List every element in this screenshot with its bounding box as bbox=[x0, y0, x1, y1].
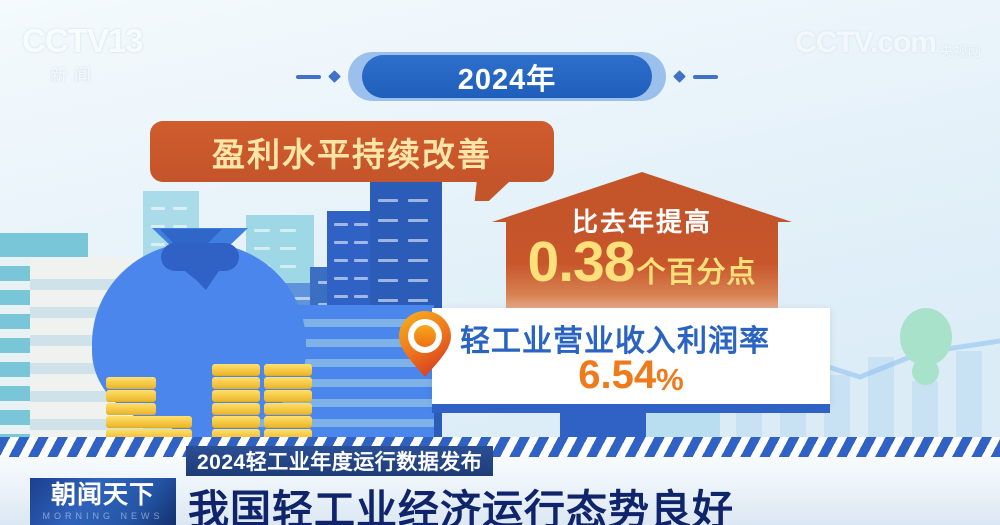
channel-watermark-sub: 新闻 bbox=[50, 61, 143, 86]
growth-unit: 个百分点 bbox=[636, 249, 756, 291]
growth-house-graphic: 比去年提高 0.38 个百分点 bbox=[492, 172, 792, 324]
badge-dash-right-icon bbox=[693, 75, 718, 79]
news-subtitle-text: 2024轻工业年度运行数据发布 bbox=[197, 446, 482, 476]
coin-stack-right bbox=[264, 357, 312, 441]
site-watermark-cn: 央视网 bbox=[940, 41, 982, 60]
program-logo: 朝闻天下 MORNING NEWS bbox=[30, 478, 176, 525]
year-badge: 2024年 bbox=[296, 52, 718, 101]
profit-rate-banner: 轻工业营业收入利润率 6.54 % bbox=[432, 308, 830, 404]
diagonal-stripe-band bbox=[0, 437, 1000, 457]
growth-value: 0.38 bbox=[528, 234, 635, 291]
year-badge-label: 2024年 bbox=[362, 55, 652, 98]
site-watermark-url: CCTV.com bbox=[795, 26, 936, 60]
channel-watermark-name: CCTV13 bbox=[22, 22, 143, 60]
money-bag-tie-icon bbox=[161, 243, 239, 271]
badge-diamond-left-icon bbox=[328, 70, 341, 83]
highlight-bubble-text: 盈利水平持续改善 bbox=[212, 128, 492, 176]
channel-watermark: CCTV13 新闻 bbox=[22, 22, 143, 86]
profit-rate-value: 6.54 bbox=[578, 353, 656, 398]
profit-rate-percent-sign: % bbox=[656, 362, 684, 398]
program-logo-en: MORNING NEWS bbox=[43, 511, 164, 521]
tree-base-icon bbox=[912, 358, 939, 385]
site-watermark: CCTV.com 央视网 bbox=[795, 26, 982, 60]
program-logo-cn: 朝闻天下 bbox=[51, 483, 155, 508]
badge-diamond-right-icon bbox=[673, 70, 686, 83]
coin-stack-mid bbox=[212, 357, 260, 441]
infographic-screen: 2024年 盈利水平持续改善 比去年提高 0.38 个百分点 轻工业营业收入利润… bbox=[0, 0, 1000, 525]
location-pin-icon bbox=[398, 309, 452, 379]
year-badge-outer: 2024年 bbox=[348, 52, 666, 101]
coin-stack-left bbox=[106, 371, 156, 441]
profit-rate-banner-underline bbox=[432, 404, 830, 413]
badge-dash-left-icon bbox=[296, 75, 321, 79]
news-subtitle-box: 2024轻工业年度运行数据发布 bbox=[186, 446, 493, 476]
news-headline: 我国轻工业经济运行态势良好 bbox=[188, 476, 734, 525]
